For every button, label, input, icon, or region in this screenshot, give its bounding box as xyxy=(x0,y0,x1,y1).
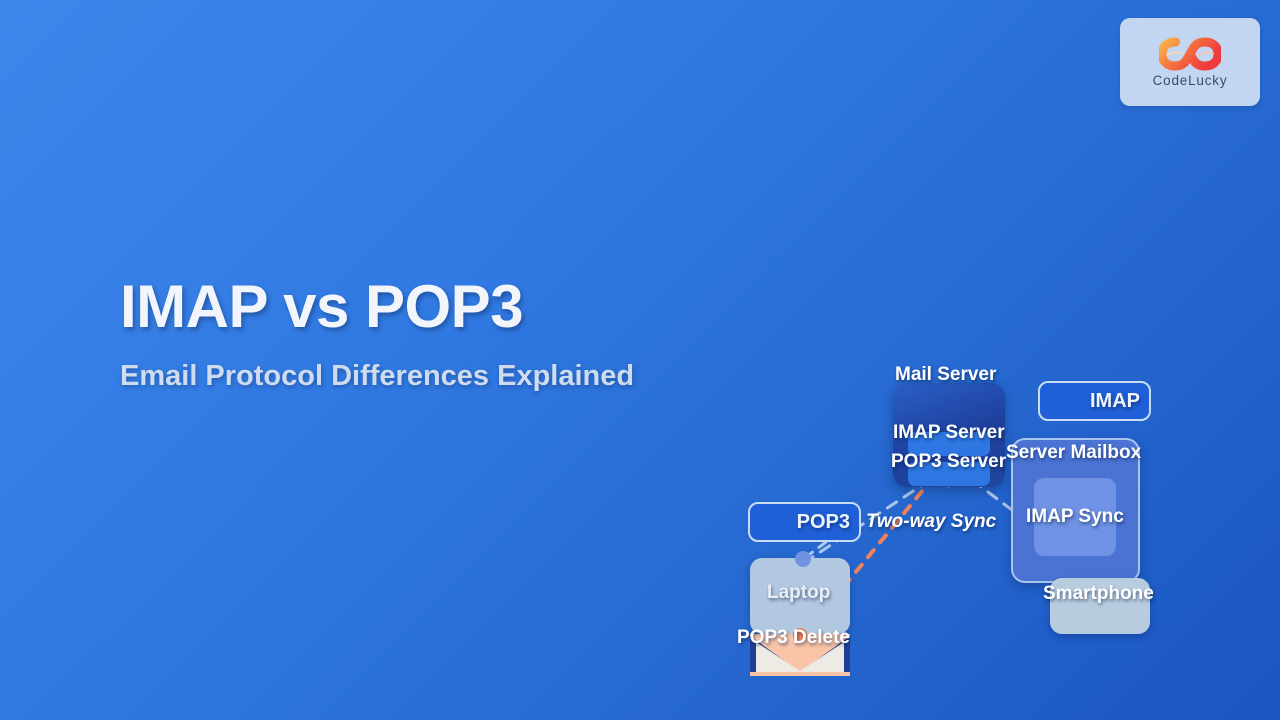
badge-imap[interactable]: IMAP xyxy=(1038,381,1151,421)
label-two-way-sync: Two-way Sync xyxy=(866,511,996,533)
label-smartphone: Smartphone xyxy=(1043,583,1154,605)
label-laptop: Laptop xyxy=(767,582,830,604)
label-pop3-server: POP3 Server xyxy=(891,451,1006,473)
label-imap-server: IMAP Server xyxy=(893,422,1005,444)
label-pop3-delete: POP3 Delete xyxy=(737,627,850,649)
label-server-mailbox: Server Mailbox xyxy=(1006,442,1141,464)
connector-dot-laptop xyxy=(795,551,811,567)
badge-imap-label: IMAP xyxy=(1090,390,1140,413)
label-mail-server: Mail Server xyxy=(895,364,996,386)
label-imap-sync: IMAP Sync xyxy=(1026,506,1124,528)
badge-pop3[interactable]: POP3 xyxy=(748,502,861,542)
badge-pop3-label: POP3 xyxy=(797,511,850,534)
diagram: IMAP POP3 Mail Server IMAP Server POP3 S… xyxy=(0,0,1280,720)
